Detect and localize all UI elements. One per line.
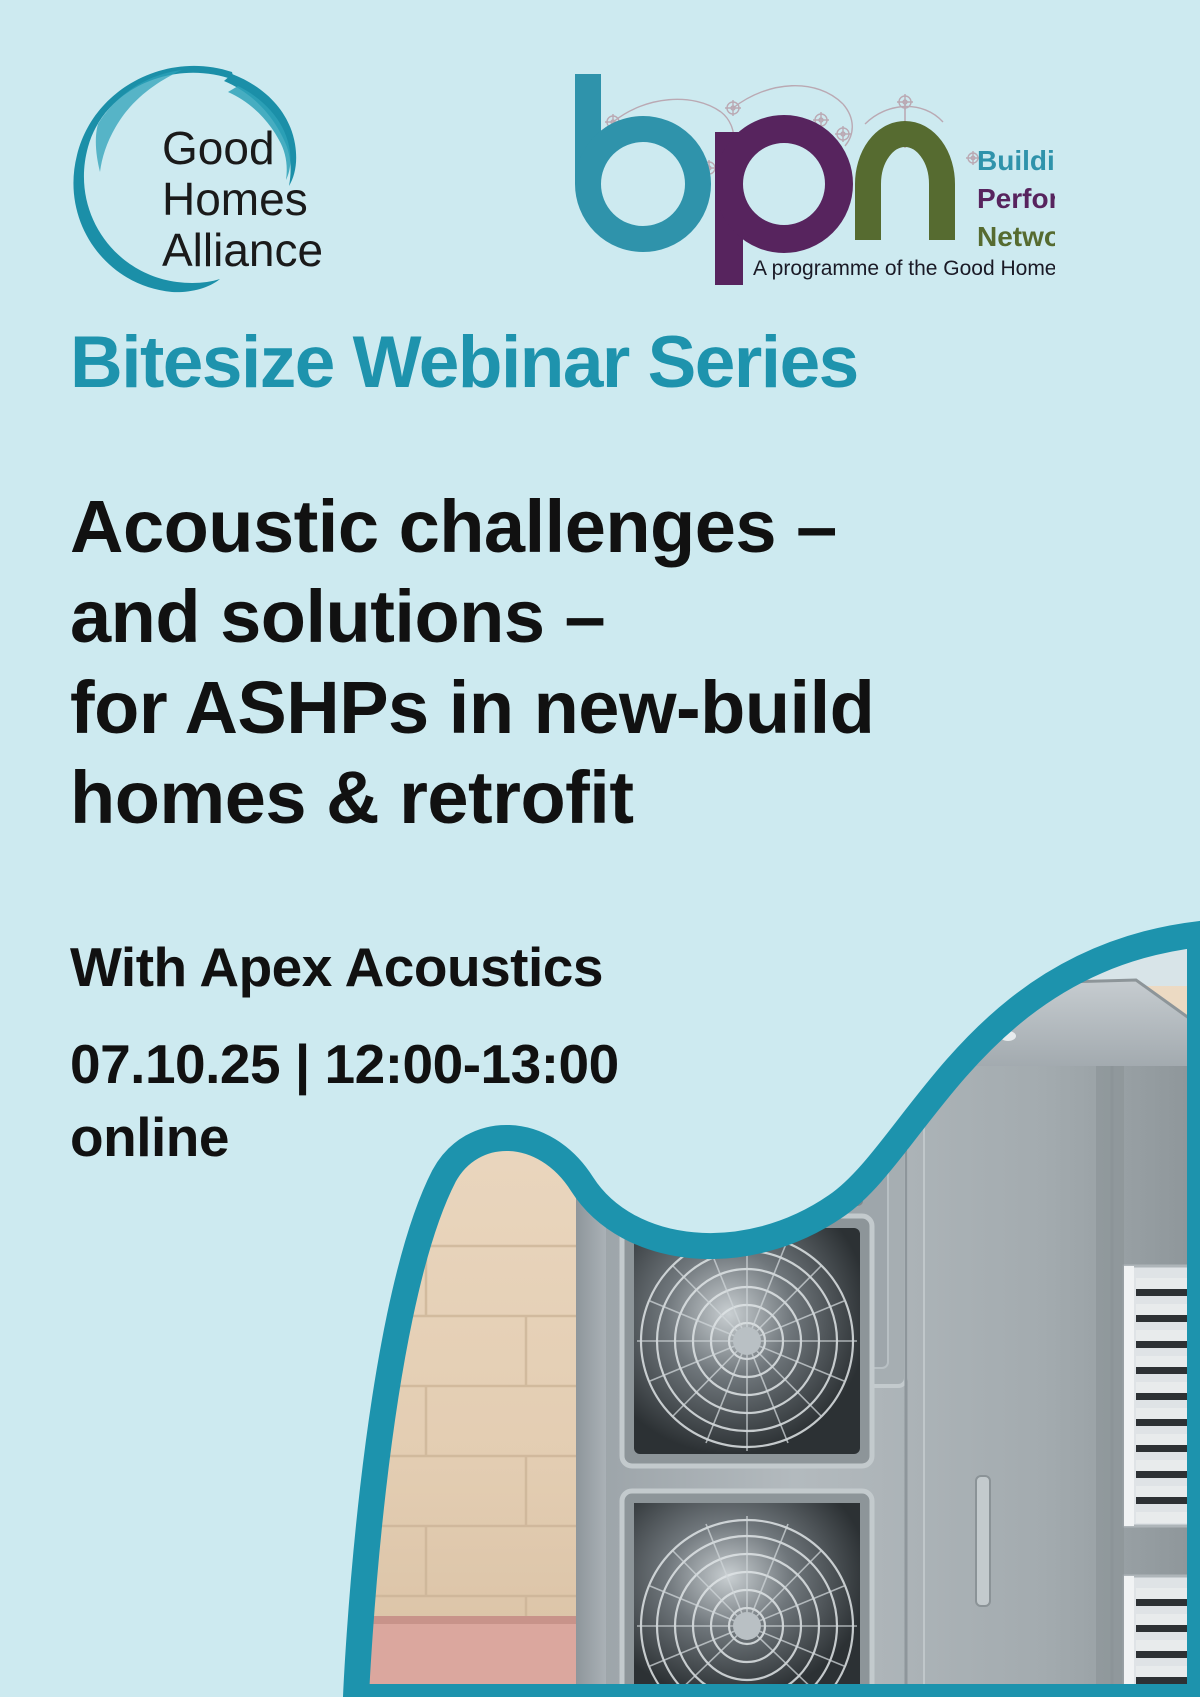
poster-canvas: Good Homes Alliance	[0, 0, 1200, 1697]
louvre-recess-shadow	[1096, 1066, 1124, 1697]
bpn-letter-n	[868, 134, 942, 240]
screw-left	[698, 1039, 714, 1049]
bpn-tagline: A programme of the Good Homes Alliance	[753, 257, 1055, 280]
bpn-word-building: Building	[977, 145, 1055, 176]
logo-row: Good Homes Alliance	[0, 0, 1200, 300]
series-title: Bitesize Webinar Series	[70, 325, 1130, 402]
gha-line1: Good	[162, 122, 275, 174]
main-title-line-2: and solutions –	[70, 572, 990, 662]
heat-pump-photo-blob	[276, 916, 1200, 1697]
bpn-word-performance: Performance	[977, 183, 1055, 214]
unit-top-cap	[576, 980, 1200, 1080]
main-title: Acoustic challenges – and solutions – fo…	[70, 482, 990, 843]
main-title-line-3: for ASHPs in new-build	[70, 663, 990, 753]
gha-line3: Alliance	[162, 224, 323, 276]
good-homes-alliance-logo: Good Homes Alliance	[62, 52, 352, 297]
main-title-line-1: Acoustic challenges –	[70, 482, 990, 572]
main-title-line-4: homes & retrofit	[70, 753, 990, 843]
bpn-word-network: Network	[977, 221, 1055, 252]
heat-pump-unit	[576, 980, 1200, 1697]
gha-line2: Homes	[162, 173, 308, 225]
fan-grille-lower	[622, 1491, 872, 1697]
bpn-logo: Building Performance Network A programme…	[525, 60, 1055, 285]
door-handle	[976, 1476, 990, 1606]
